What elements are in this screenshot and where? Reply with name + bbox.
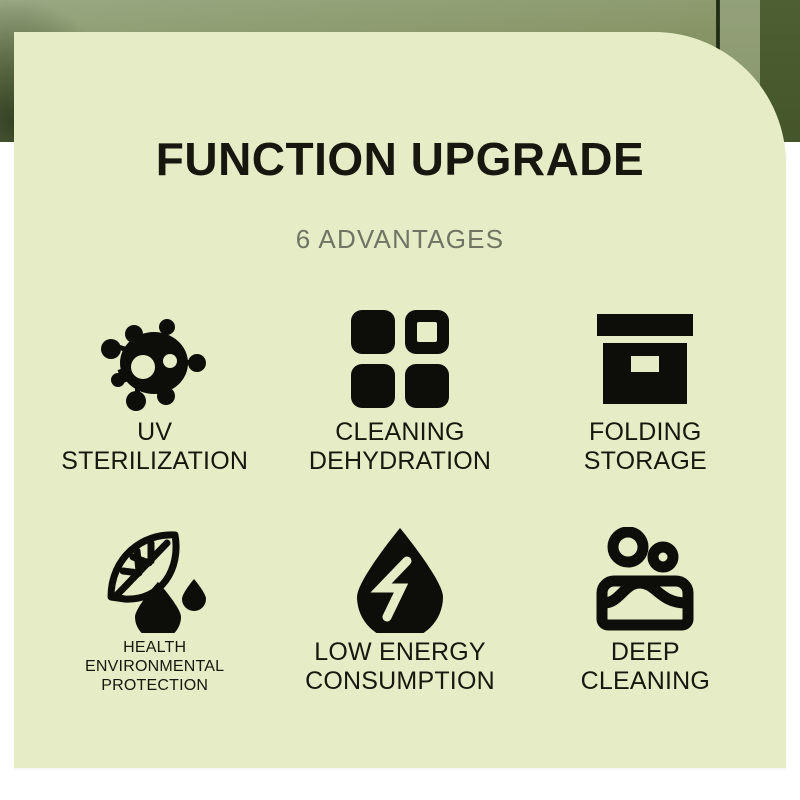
virus-icon bbox=[96, 300, 214, 418]
feature-label: DEEP CLEANING bbox=[581, 638, 710, 696]
page-subtitle: 6 ADVANTAGES bbox=[14, 226, 786, 252]
droplet-bolt-icon bbox=[353, 520, 447, 638]
feature-grid: UV STERILIZATION CLEANING DEHYDRATION bbox=[32, 300, 768, 740]
feature-label: CLEANING DEHYDRATION bbox=[309, 418, 491, 476]
feature-item-low-energy-consumption: LOW ENERGY CONSUMPTION bbox=[277, 520, 522, 740]
product-feature-banner: FUNCTION UPGRADE 6 ADVANTAGES bbox=[0, 0, 800, 800]
grid-squares-icon bbox=[349, 300, 451, 418]
feature-item-deep-cleaning: DEEP CLEANING bbox=[523, 520, 768, 740]
storage-box-icon bbox=[595, 300, 695, 418]
feature-label: FOLDING STORAGE bbox=[584, 418, 707, 476]
feature-label: HEALTH ENVIRONMENTAL PROTECTION bbox=[32, 638, 277, 696]
feature-item-cleaning-dehydration: CLEANING DEHYDRATION bbox=[277, 300, 522, 520]
feature-item-health-environmental-protection: HEALTH ENVIRONMENTAL PROTECTION bbox=[32, 520, 277, 740]
feature-item-uv-sterilization: UV STERILIZATION bbox=[32, 300, 277, 520]
feature-label: LOW ENERGY CONSUMPTION bbox=[305, 638, 495, 696]
feature-item-folding-storage: FOLDING STORAGE bbox=[523, 300, 768, 520]
page-title: FUNCTION UPGRADE bbox=[14, 136, 786, 182]
soap-bubbles-icon bbox=[590, 520, 700, 638]
feature-card: FUNCTION UPGRADE 6 ADVANTAGES bbox=[14, 32, 786, 768]
feature-label: UV STERILIZATION bbox=[61, 418, 248, 476]
leaf-droplet-icon bbox=[99, 520, 211, 638]
